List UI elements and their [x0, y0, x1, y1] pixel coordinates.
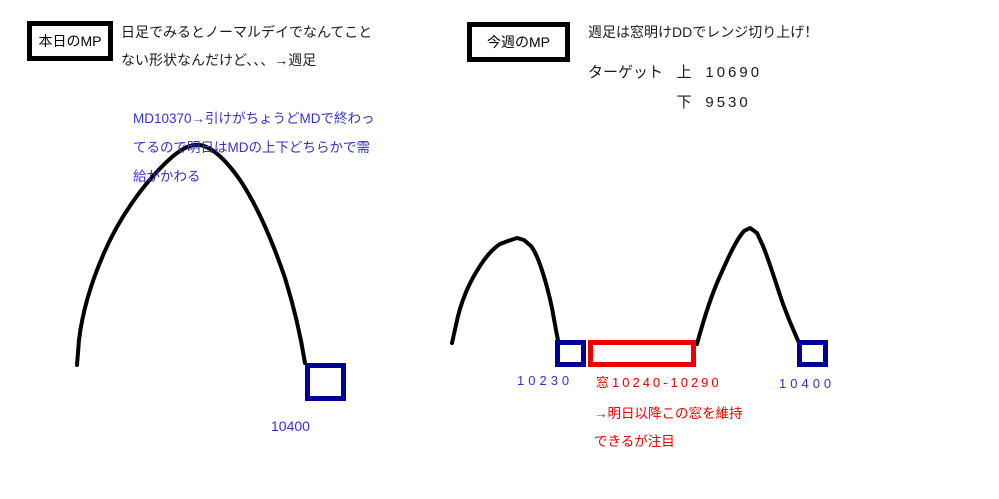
target-upper-value: 10690 — [705, 58, 762, 88]
target-upper-direction: 上 — [667, 58, 701, 88]
annotated-market-profile-whiteboard: 本日のMP 日足でみるとノーマルデイでなんてこと ない形状なんだけど、、、→週足… — [0, 0, 999, 499]
weekly-profile-curve-left — [452, 238, 559, 345]
weekly-profile-curve-right — [697, 228, 800, 345]
today-note-paragraph: 日足でみるとノーマルデイでなんてこと ない形状なんだけど、、、→週足 — [121, 18, 372, 74]
today-blue-line-3: 給がかわる — [133, 162, 375, 191]
target-label: ターゲット — [588, 58, 663, 88]
weekly-red-line-1: →明日以降この窓を維持 — [594, 400, 743, 428]
weekly-gap-window-box[interactable] — [588, 340, 696, 367]
today-note-line-2: ない形状なんだけど、、、→週足 — [121, 46, 372, 74]
weekly-mp-header-box: 今週のMP — [467, 22, 570, 62]
weekly-gap-label: 窓10240-10290 — [596, 372, 722, 391]
today-blue-line-2: てるので明日はMDの上下どちらかで需 — [133, 133, 375, 162]
today-blue-line-1: MD10370→引けがちょうどMDで終わっ — [133, 104, 375, 133]
weekly-note-line-1: 週足は窓明けDDでレンジ切り上げ！ — [588, 18, 818, 46]
weekly-lower-node-box[interactable] — [555, 340, 586, 367]
today-mp-header-box: 本日のMP — [27, 21, 113, 61]
today-price-label: 10400 — [271, 418, 310, 434]
weekly-mp-header-label: 今週のMP — [487, 32, 550, 52]
target-row-lower: ターゲット 下 9530 — [588, 88, 762, 118]
target-lower-value: 9530 — [705, 88, 750, 118]
weekly-red-annotation: →明日以降この窓を維持 できるが注目 — [594, 400, 743, 456]
profile-curves-layer — [0, 0, 999, 499]
weekly-price-label-right: 10400 — [779, 376, 835, 391]
weekly-note-paragraph: 週足は窓明けDDでレンジ切り上げ！ — [588, 18, 818, 46]
target-lower-direction: 下 — [667, 88, 701, 118]
today-mp-header-label: 本日のMP — [39, 31, 102, 51]
weekly-red-line-2: できるが注目 — [594, 428, 743, 456]
weekly-upper-node-box[interactable] — [797, 340, 828, 367]
today-value-area-box[interactable] — [305, 363, 346, 401]
today-blue-annotation: MD10370→引けがちょうどMDで終わっ てるので明日はMDの上下どちらかで需… — [133, 104, 375, 191]
weekly-price-label-left: 10230 — [517, 373, 573, 388]
target-row-upper: ターゲット 上 10690 — [588, 58, 762, 88]
today-note-line-1: 日足でみるとノーマルデイでなんてこと — [121, 18, 372, 46]
weekly-target-block: ターゲット 上 10690 ターゲット 下 9530 — [588, 58, 762, 118]
